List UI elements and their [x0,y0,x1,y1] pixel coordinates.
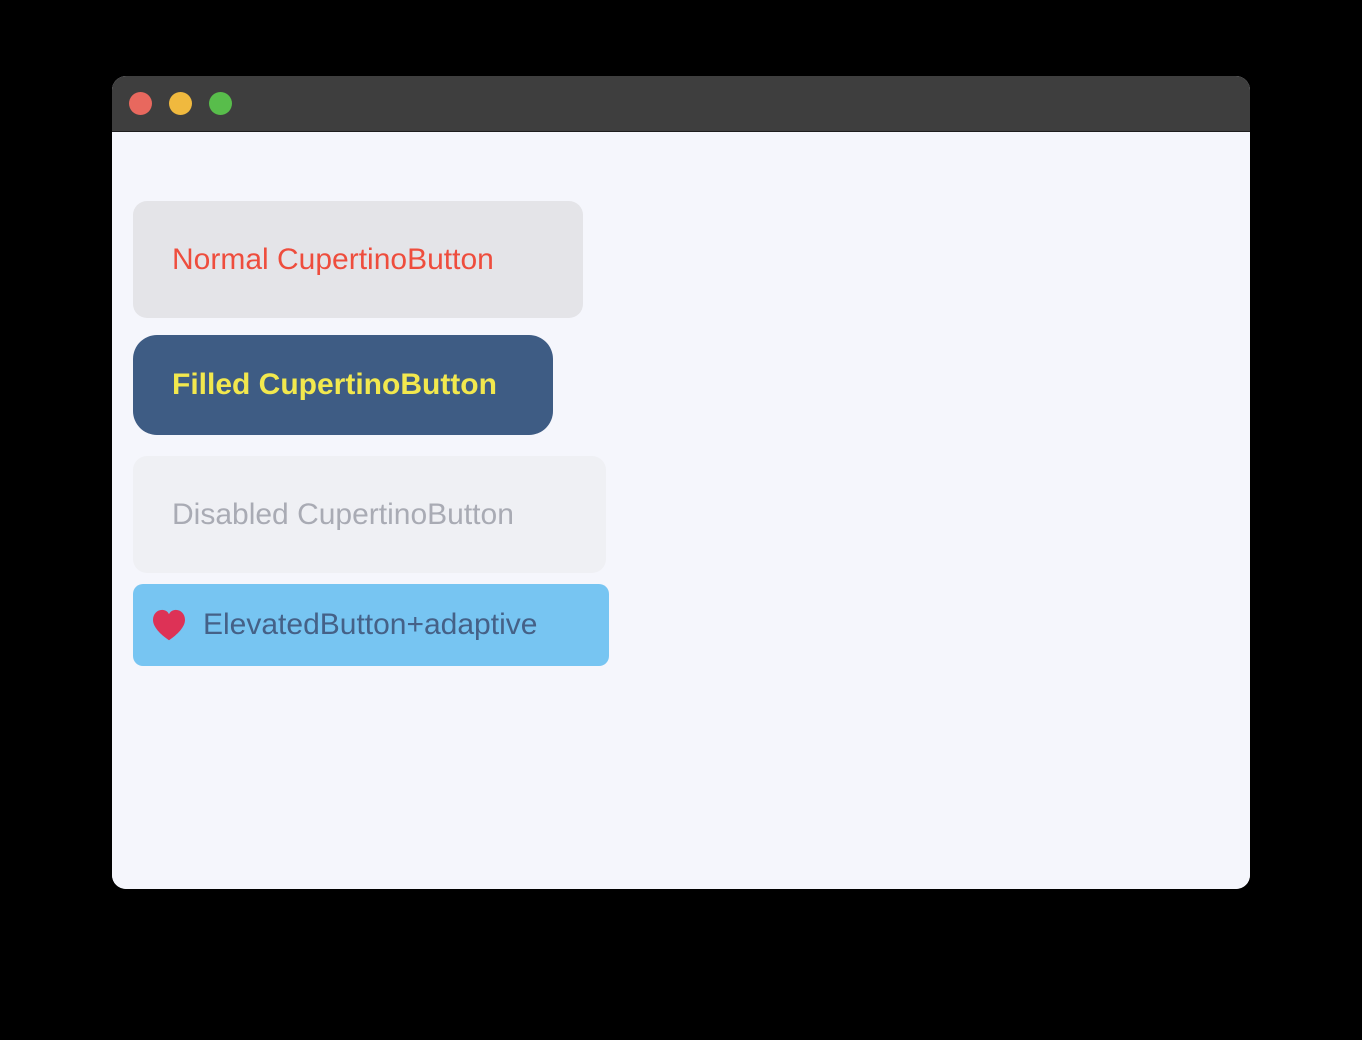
heart-icon [152,609,186,641]
traffic-light-group [129,76,232,131]
filled-cupertino-button[interactable]: Filled CupertinoButton [133,335,553,435]
window-content: Normal CupertinoButton Filled CupertinoB… [112,132,1250,889]
disabled-cupertino-button-label: Disabled CupertinoButton [172,500,514,530]
disabled-cupertino-button: Disabled CupertinoButton [133,456,606,573]
normal-cupertino-button[interactable]: Normal CupertinoButton [133,201,583,318]
minimize-window-icon[interactable] [169,92,192,115]
normal-cupertino-button-label: Normal CupertinoButton [172,245,494,275]
filled-cupertino-button-label: Filled CupertinoButton [172,370,497,400]
app-window: Normal CupertinoButton Filled CupertinoB… [112,76,1250,889]
maximize-window-icon[interactable] [209,92,232,115]
window-titlebar [112,76,1250,132]
close-window-icon[interactable] [129,92,152,115]
elevated-button-adaptive[interactable]: ElevatedButton+adaptive [133,584,609,666]
elevated-button-adaptive-label: ElevatedButton+adaptive [203,610,537,640]
